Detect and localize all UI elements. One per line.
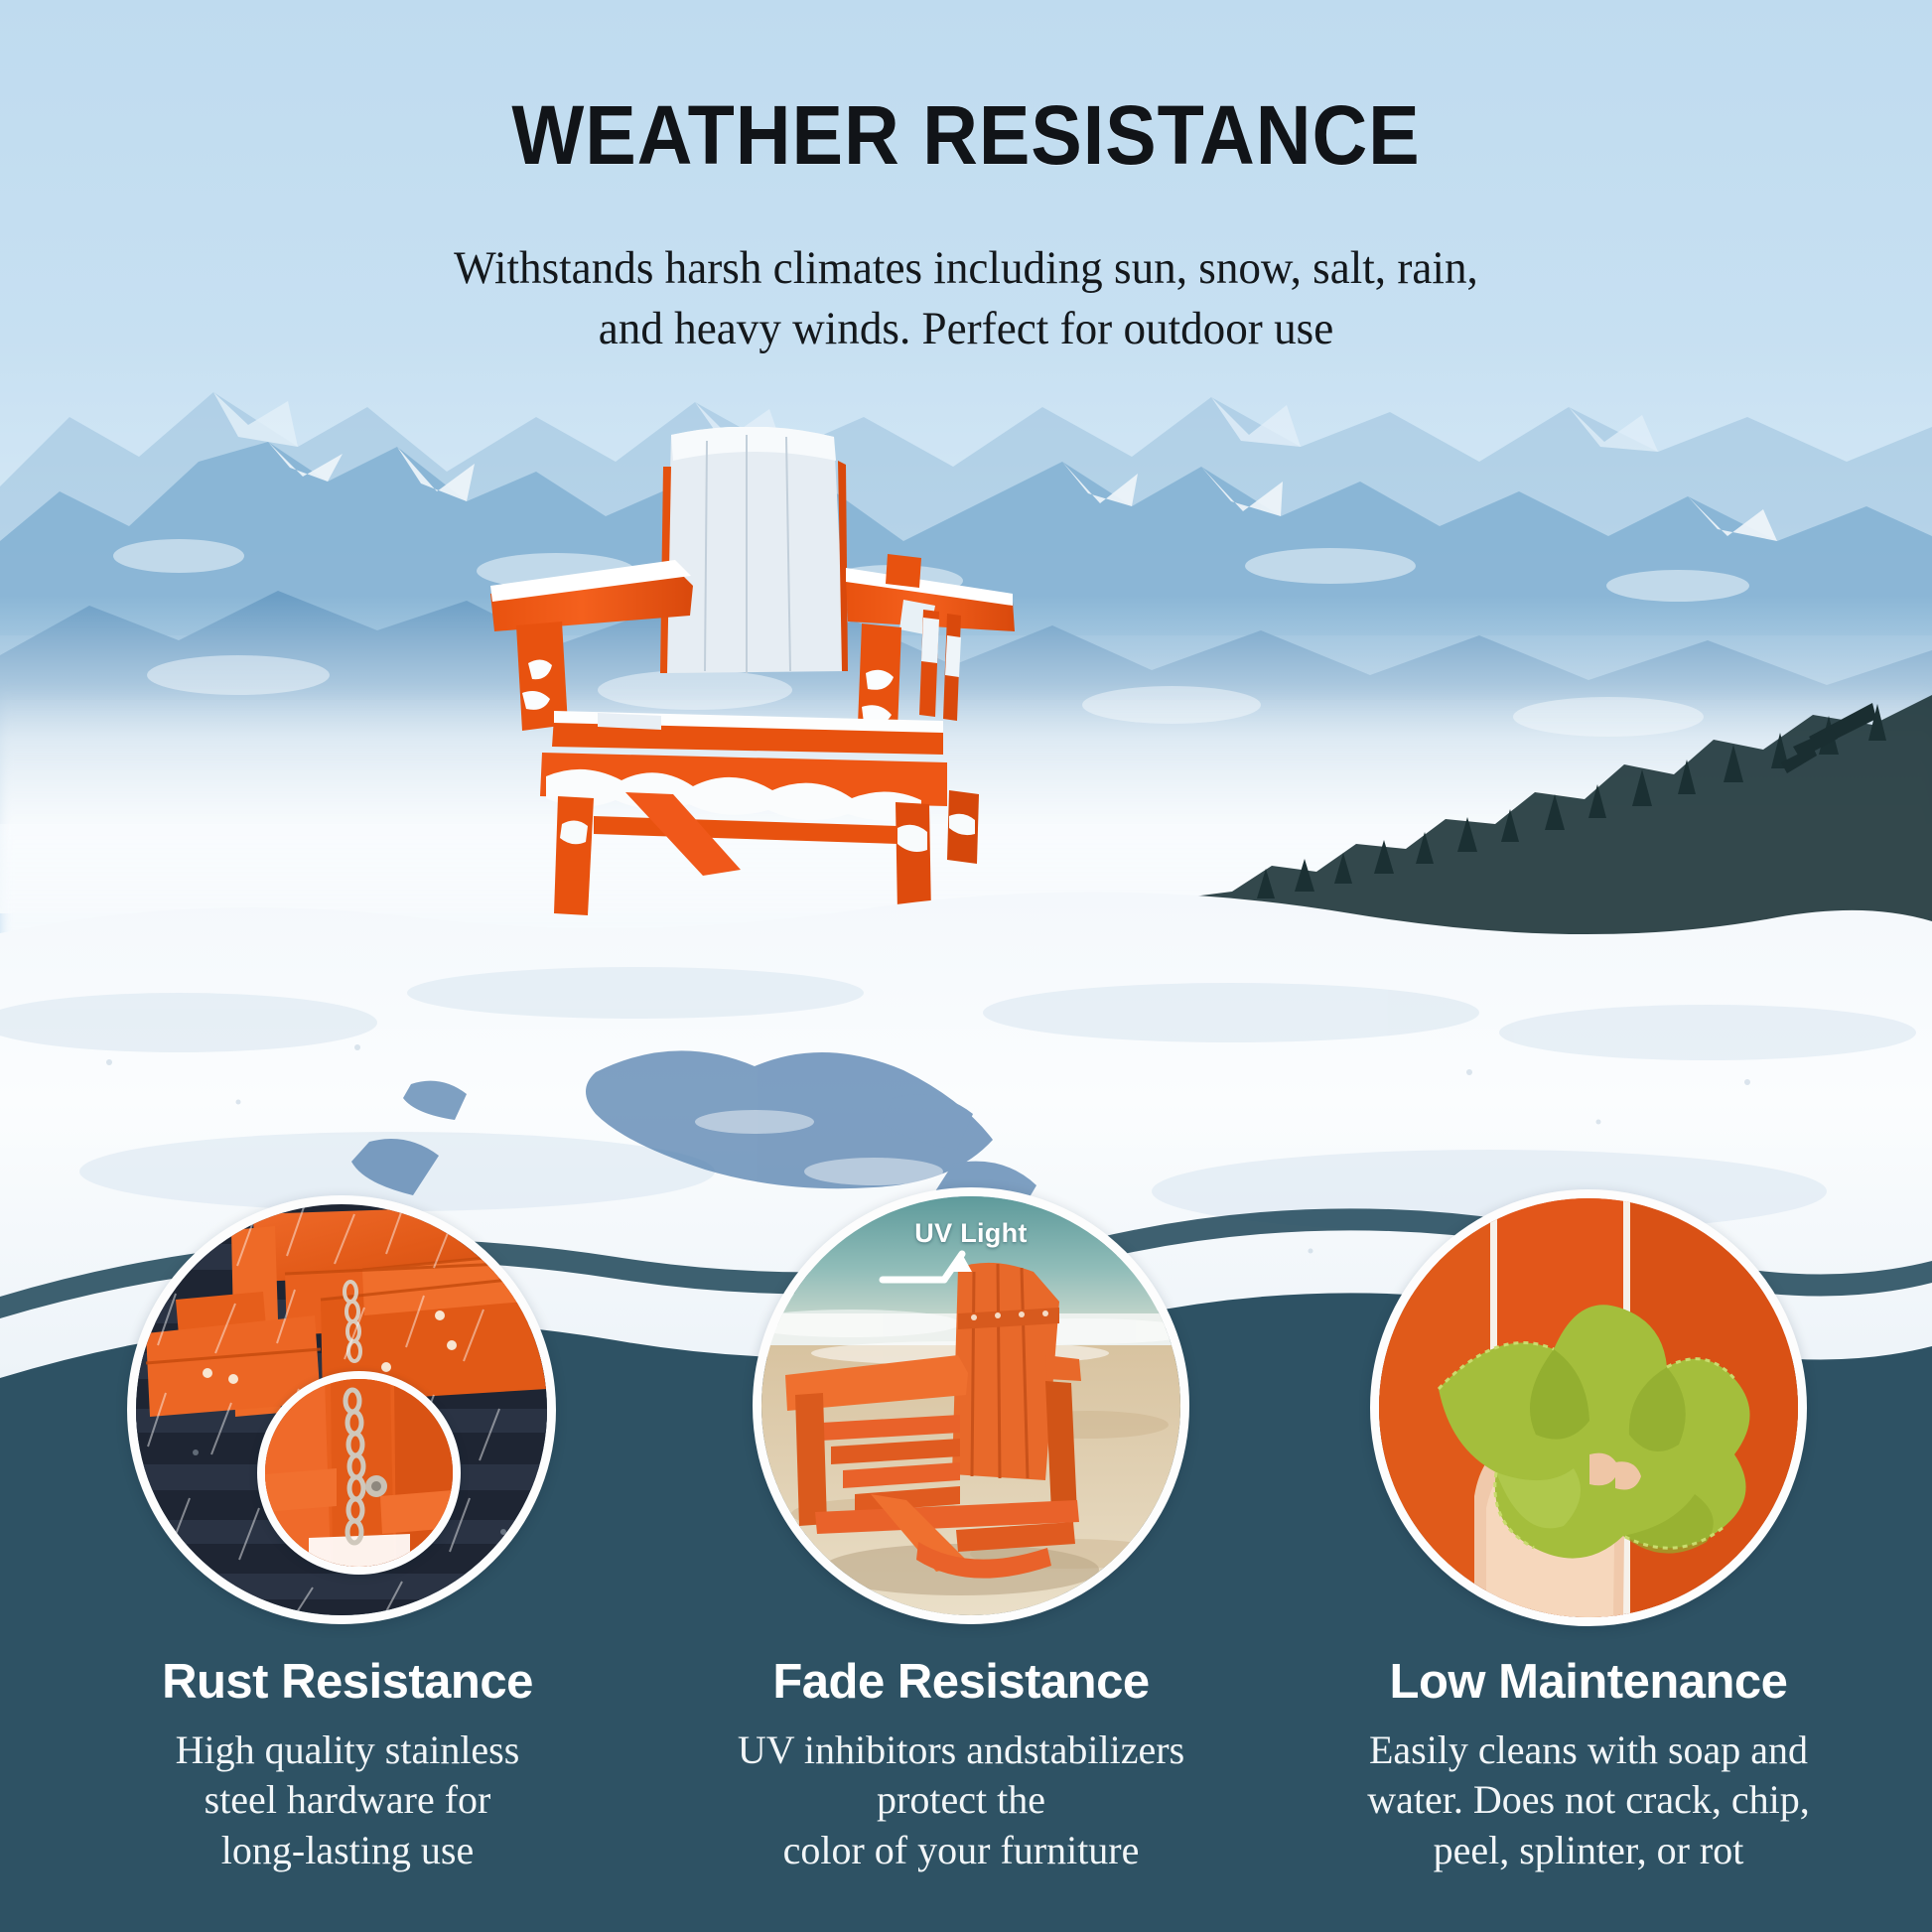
feature-title-maintenance: Low Maintenance <box>1291 1654 1886 1710</box>
feature-body-line-1: Easily cleans with soap and <box>1291 1725 1886 1775</box>
uv-light-label: UV Light <box>761 1218 1180 1249</box>
feature-body-line-1: UV inhibitors andstabilizers <box>663 1725 1259 1775</box>
feature-image-rust-resistance[interactable] <box>127 1195 556 1624</box>
feature-title-rust: Rust Resistance <box>60 1654 635 1710</box>
feature-image-fade-resistance[interactable]: UV Light <box>753 1187 1189 1624</box>
infographic-canvas: WEATHER RESISTANCE Withstands harsh clim… <box>0 0 1932 1932</box>
feature-body-maintenance: Easily cleans with soap and water. Does … <box>1291 1725 1886 1875</box>
subtitle-line-1: Withstands harsh climates including sun,… <box>39 238 1893 299</box>
feature-text-fade-resistance: Fade Resistance UV inhibitors andstabili… <box>663 1654 1259 1875</box>
hardware-detail-inset <box>257 1371 461 1575</box>
page-subtitle: Withstands harsh climates including sun,… <box>39 238 1893 359</box>
feature-body-line-2: steel hardware for <box>60 1775 635 1825</box>
cleaning-cloth-photo <box>1379 1198 1798 1617</box>
feature-image-low-maintenance[interactable] <box>1370 1189 1807 1626</box>
uv-light-arrow-icon <box>761 1196 1180 1615</box>
feature-body-line-3: peel, splinter, or rot <box>1291 1826 1886 1875</box>
feature-body-line-3: color of your furniture <box>663 1826 1259 1875</box>
feature-body-line-1: High quality stainless <box>60 1725 635 1775</box>
feature-body-fade: UV inhibitors andstabilizers protect the… <box>663 1725 1259 1875</box>
snow-covered-chair <box>477 427 1033 923</box>
feature-body-line-2: protect the <box>663 1775 1259 1825</box>
page-title: WEATHER RESISTANCE <box>77 87 1855 184</box>
subtitle-line-2: and heavy winds. Perfect for outdoor use <box>39 299 1893 359</box>
feature-body-rust: High quality stainless steel hardware fo… <box>60 1725 635 1875</box>
feature-title-fade: Fade Resistance <box>663 1654 1259 1710</box>
feature-body-line-3: long-lasting use <box>60 1826 635 1875</box>
feature-text-rust-resistance: Rust Resistance High quality stainless s… <box>60 1654 635 1875</box>
feature-text-low-maintenance: Low Maintenance Easily cleans with soap … <box>1291 1654 1886 1875</box>
feature-body-line-2: water. Does not crack, chip, <box>1291 1775 1886 1825</box>
